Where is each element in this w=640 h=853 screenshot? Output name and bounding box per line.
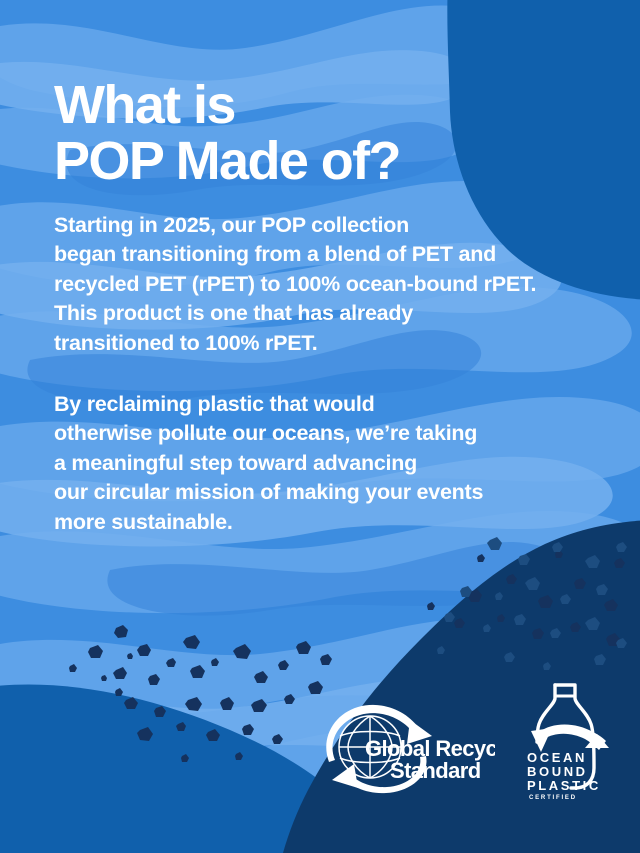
ocean-bound-plastic-logo: OCEAN BOUND PLASTIC CERTIFIED OCEAN BOUN… xyxy=(513,676,613,804)
obp-label-line-3: PLASTIC xyxy=(527,778,601,793)
body-paragraph-1: Starting in 2025, our POP collection beg… xyxy=(54,211,620,358)
obp-label-line-1: OCEAN xyxy=(527,750,587,765)
poster: What is POP Made of? Starting in 2025, o… xyxy=(0,0,640,853)
bottle-with-arrows-icon: OCEAN BOUND PLASTIC CERTIFIED xyxy=(513,676,613,804)
globe-with-recycling-arrows-icon: Global Recycled Standard xyxy=(310,700,495,800)
obp-line-1-text: OCEAN xyxy=(513,804,514,805)
paragraph-1-bold-phrase: 100% ocean-bound rPET. xyxy=(286,272,536,296)
obp-line-3-text: PLASTIC xyxy=(513,804,514,805)
obp-line-4-text: CERTIFIED xyxy=(513,804,514,805)
grs-label-line-2: Standard xyxy=(390,758,481,783)
obp-label-line-2: BOUND xyxy=(527,764,588,779)
paragraph-1-text-after: This product is one that has already tra… xyxy=(54,301,413,354)
global-recycled-standard-logo: Global Recycled Standard Global Recycled… xyxy=(310,700,495,800)
obp-label-line-4: CERTIFIED xyxy=(529,795,577,801)
page-title: What is POP Made of? xyxy=(54,78,574,189)
grs-line-1-text: Global Recycled xyxy=(310,800,311,801)
body-paragraph-2: By reclaiming plastic that would otherwi… xyxy=(54,390,620,537)
obp-line-2-text: BOUND xyxy=(513,804,514,805)
grs-line-2-text: Standard xyxy=(310,800,311,801)
